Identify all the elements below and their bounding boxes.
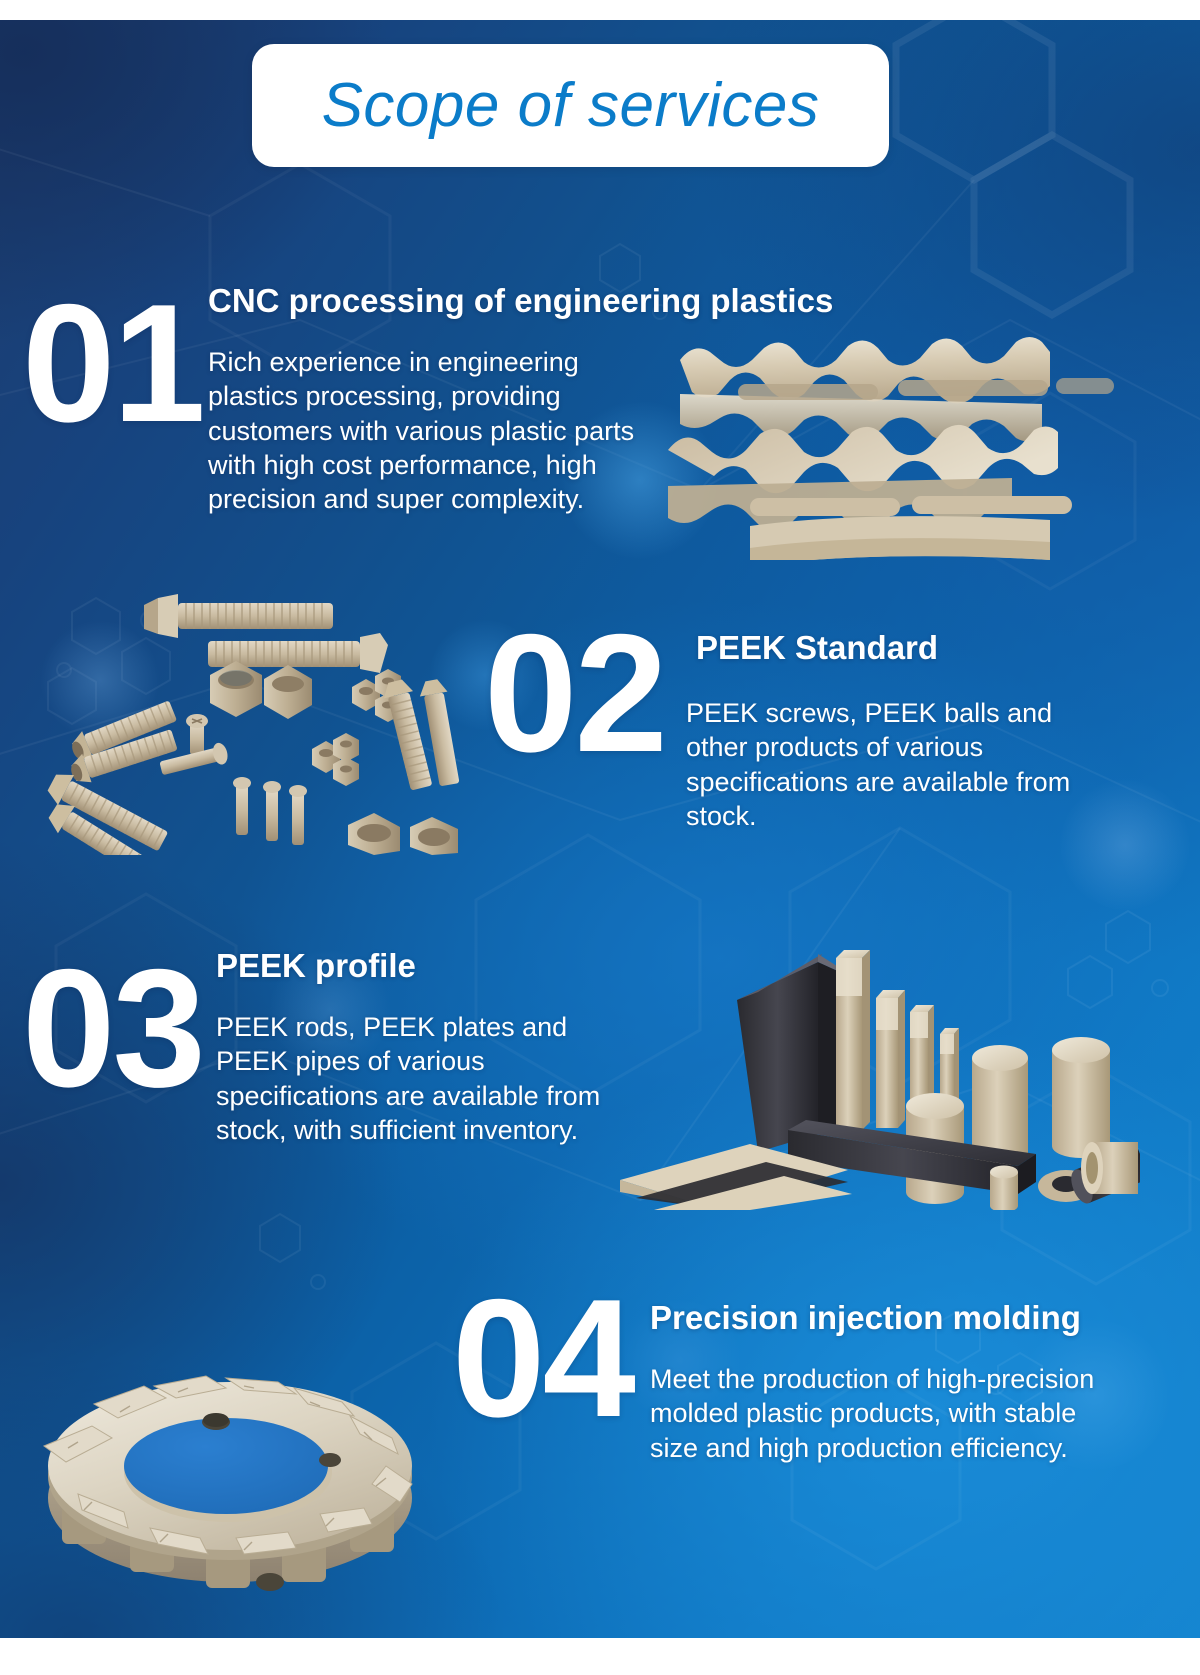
- section-heading-02: PEEK Standard: [696, 630, 938, 666]
- section-heading-01: CNC processing of engineering plastics: [208, 283, 833, 319]
- molded-ring-photo: [20, 1270, 440, 1600]
- page-title-card: Scope of services: [252, 44, 889, 167]
- peek-screws-photo: [40, 545, 460, 855]
- section-body-01: Rich experience in engineering plastics …: [208, 345, 640, 516]
- section-body-04: Meet the production of high-precision mo…: [650, 1362, 1110, 1465]
- top-white-strip: [0, 0, 1200, 20]
- section-body-03: PEEK rods, PEEK plates and PEEK pipes of…: [216, 1010, 616, 1147]
- section-number-02: 02: [484, 625, 665, 763]
- section-body-02: PEEK screws, PEEK balls and other produc…: [686, 696, 1104, 833]
- section-number-03: 03: [22, 960, 203, 1098]
- bottom-white-strip: [0, 1638, 1200, 1675]
- page-title: Scope of services: [322, 75, 820, 137]
- cnc-part-photo: [660, 300, 1130, 560]
- section-number-01: 01: [22, 295, 203, 433]
- section-heading-04: Precision injection molding: [650, 1300, 1081, 1336]
- section-heading-03: PEEK profile: [216, 948, 416, 984]
- section-number-04: 04: [452, 1290, 633, 1428]
- peek-profile-photo: [600, 880, 1140, 1210]
- poster-root: Scope of services: [0, 0, 1200, 1675]
